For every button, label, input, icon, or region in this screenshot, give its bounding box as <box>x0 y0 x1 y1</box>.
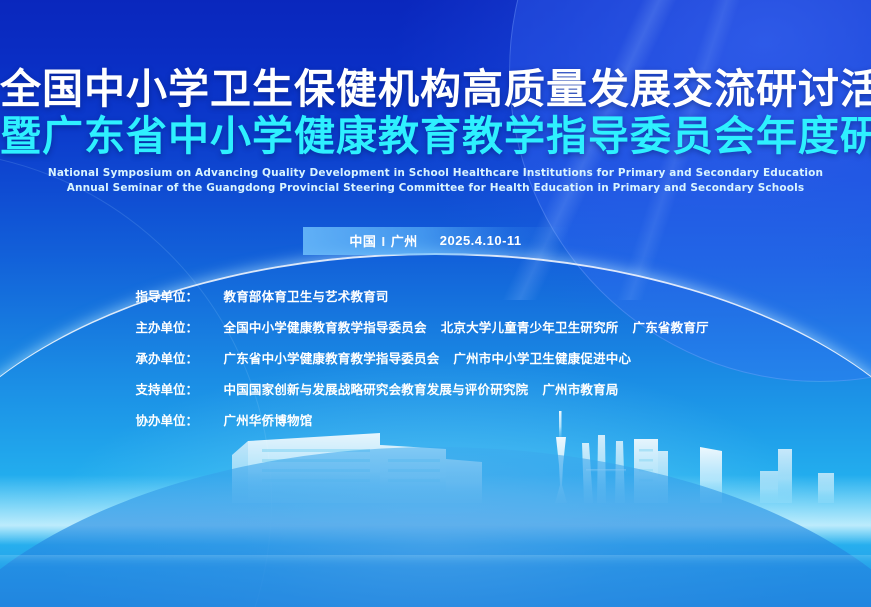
credit-organizations: 广州华侨博物馆 <box>224 410 313 429</box>
credit-organizations: 教育部体育卫生与艺术教育司 <box>224 286 389 305</box>
badge-city: 广州 <box>391 234 418 249</box>
credit-organization: 广州市中小学卫生健康促进中心 <box>453 352 631 366</box>
credit-organization: 广东省教育厅 <box>633 321 709 335</box>
subtitle-block: National Symposium on Advancing Quality … <box>0 166 871 196</box>
badge-location: 中国 I 广州 <box>349 231 417 250</box>
credit-label: 指导单位： <box>136 286 224 305</box>
headline-block: 全国中小学卫生保健机构高质量发展交流研讨活动 暨广东省中小学健康教育教学指导委员… <box>0 68 871 196</box>
badge-separator: I <box>380 234 386 249</box>
credits-block: 指导单位：教育部体育卫生与艺术教育司主办单位：全国中小学健康教育教学指导委员会北… <box>0 286 871 441</box>
title-line-1: 全国中小学卫生保健机构高质量发展交流研讨活动 <box>0 68 871 111</box>
title-line-2: 暨广东省中小学健康教育教学指导委员会年度研讨活动 <box>0 115 871 158</box>
credit-organization: 北京大学儿童青少年卫生研究所 <box>441 321 619 335</box>
venue-date-badge-row: 中国 I 广州 2025.4.10-11 <box>0 227 871 255</box>
credit-row: 支持单位：中国国家创新与发展战略研究会教育发展与评价研究院广州市教育局 <box>136 379 736 398</box>
skyscraper <box>634 439 668 503</box>
subtitle-line-2: Annual Seminar of the Guangdong Provinci… <box>0 181 871 196</box>
credit-label: 承办单位： <box>136 348 224 367</box>
school-building <box>232 433 482 503</box>
credit-row: 指导单位：教育部体育卫生与艺术教育司 <box>136 286 736 305</box>
credit-organization: 中国国家创新与发展战略研究会教育发展与评价研究院 <box>224 383 529 397</box>
credit-row: 主办单位：全国中小学健康教育教学指导委员会北京大学儿童青少年卫生研究所广东省教育… <box>136 317 736 336</box>
credit-organization: 广东省中小学健康教育教学指导委员会 <box>224 352 440 366</box>
credit-row: 协办单位：广州华侨博物馆 <box>136 410 736 429</box>
credit-organizations: 广东省中小学健康教育教学指导委员会广州市中小学卫生健康促进中心 <box>224 348 632 367</box>
credit-label: 主办单位： <box>136 317 224 336</box>
credit-organization: 广州市教育局 <box>542 383 618 397</box>
credit-organization: 全国中小学健康教育教学指导委员会 <box>224 321 427 335</box>
subtitle-line-1: National Symposium on Advancing Quality … <box>0 166 871 181</box>
credit-organizations: 中国国家创新与发展战略研究会教育发展与评价研究院广州市教育局 <box>224 379 619 398</box>
credit-organizations: 全国中小学健康教育教学指导委员会北京大学儿童青少年卫生研究所广东省教育厅 <box>224 317 709 336</box>
credit-label: 支持单位： <box>136 379 224 398</box>
conference-poster: 全国中小学卫生保健机构高质量发展交流研讨活动 暨广东省中小学健康教育教学指导委员… <box>0 0 871 607</box>
badge-date: 2025.4.10-11 <box>440 233 522 248</box>
skyline-haze <box>0 475 871 545</box>
right-towers <box>760 449 834 503</box>
credit-row: 承办单位：广东省中小学健康教育教学指导委员会广州市中小学卫生健康促进中心 <box>136 348 736 367</box>
high-rise <box>700 447 722 503</box>
credit-organization: 广州华侨博物馆 <box>224 414 313 428</box>
horizon-fill <box>0 447 871 607</box>
credit-label: 协办单位： <box>136 410 224 429</box>
badge-country: 中国 <box>349 234 376 249</box>
twin-towers <box>582 435 626 503</box>
venue-date-badge: 中国 I 广州 2025.4.10-11 <box>303 227 567 255</box>
credit-organization: 教育部体育卫生与艺术教育司 <box>224 290 389 304</box>
